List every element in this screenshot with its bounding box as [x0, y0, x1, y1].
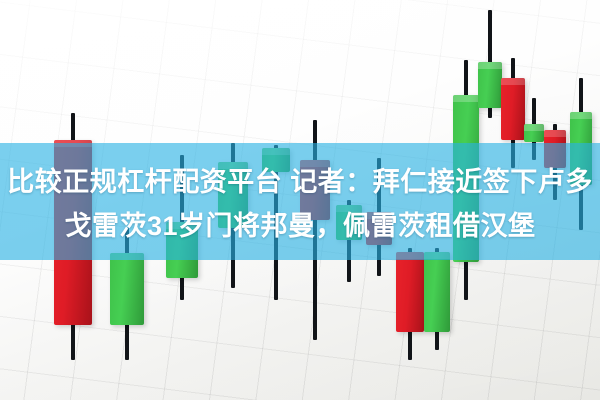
headline-line-2: 戈雷茨31岁门将邦曼，佩雷茨租借汉堡: [0, 204, 600, 248]
candle-body-highlight: [524, 124, 544, 131]
candle-body-highlight: [478, 62, 502, 69]
candle-body-up: [424, 252, 450, 332]
candle-body-highlight: [501, 78, 525, 85]
candle-body-down: [501, 78, 525, 140]
headline-text: 比较正规杠杆配资平台 记者：拜仁接近签下卢多 戈雷茨31岁门将邦曼，佩雷茨租借汉…: [0, 160, 600, 248]
candle-body-highlight: [570, 112, 592, 119]
candle-body-down: [396, 252, 424, 332]
candle-body-highlight: [544, 130, 566, 137]
news-banner: 比较正规杠杆配资平台 记者：拜仁接近签下卢多 戈雷茨31岁门将邦曼，佩雷茨租借汉…: [0, 0, 600, 400]
candle-body-up: [478, 62, 502, 108]
candle-body-highlight: [453, 95, 479, 102]
headline-line-1: 比较正规杠杆配资平台 记者：拜仁接近签下卢多: [0, 160, 600, 204]
candle-body-up: [110, 253, 144, 325]
candle-body-up: [524, 124, 544, 142]
